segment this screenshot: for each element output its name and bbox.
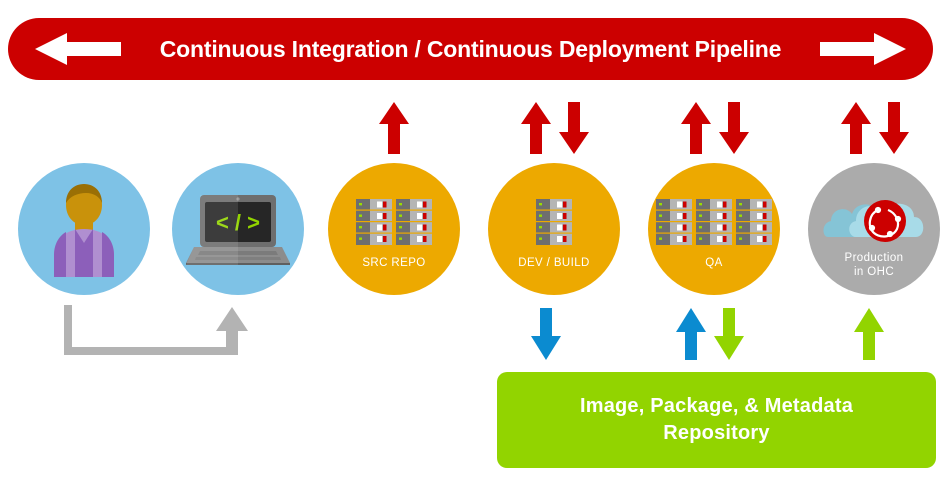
arrow-down-qa-icon (716, 100, 752, 156)
arrow-down-dev-build-to-repo-icon (528, 306, 564, 362)
arrow-up-src-repo-icon (376, 100, 412, 156)
developer-to-workstation-connector (60, 305, 260, 361)
arrow-up-qa-icon (678, 100, 714, 156)
arrow-up-repo-to-production-icon (851, 306, 887, 362)
arrow-up-qa-to-repo-icon (673, 306, 709, 362)
server-rack-icon (656, 199, 772, 245)
node-production: Production in OHC (808, 163, 940, 295)
node-label-production-line1: Production (808, 251, 940, 265)
node-label-src-repo: SRC REPO (328, 256, 460, 270)
arrow-down-dev-build-icon (556, 100, 592, 156)
node-label-qa: QA (648, 256, 780, 270)
server-rack-icon (536, 199, 572, 245)
cicd-pipeline-diagram: Continuous Integration / Continuous Depl… (0, 0, 941, 500)
node-dev-build: DEV / BUILD (488, 163, 620, 295)
arrow-up-production-icon (838, 100, 874, 156)
repository-label-line1: Image, Package, & Metadata (580, 393, 853, 420)
pipeline-banner: Continuous Integration / Continuous Depl… (8, 18, 933, 80)
node-workstation: < / > (172, 163, 304, 295)
repository-label-line2: Repository (580, 420, 853, 447)
repository-label: Image, Package, & Metadata Repository (497, 372, 936, 468)
arrow-right-icon (818, 31, 908, 67)
arrow-down-repo-to-qa-icon (711, 306, 747, 362)
node-label-dev-build: DEV / BUILD (488, 256, 620, 270)
cloud-openshift-icon (822, 185, 926, 247)
repository-box: Image, Package, & Metadata Repository (497, 372, 936, 468)
node-qa: QA (648, 163, 780, 295)
node-developer (18, 163, 150, 295)
page-title: Continuous Integration / Continuous Depl… (138, 18, 803, 80)
arrow-up-dev-build-icon (518, 100, 554, 156)
laptop-code-icon: < / > (186, 193, 290, 265)
arrow-down-production-icon (876, 100, 912, 156)
node-src-repo: SRC REPO (328, 163, 460, 295)
arrow-left-icon (33, 31, 123, 67)
node-label-production-line2: in OHC (808, 265, 940, 279)
person-icon (44, 181, 124, 277)
server-rack-icon (356, 199, 432, 245)
